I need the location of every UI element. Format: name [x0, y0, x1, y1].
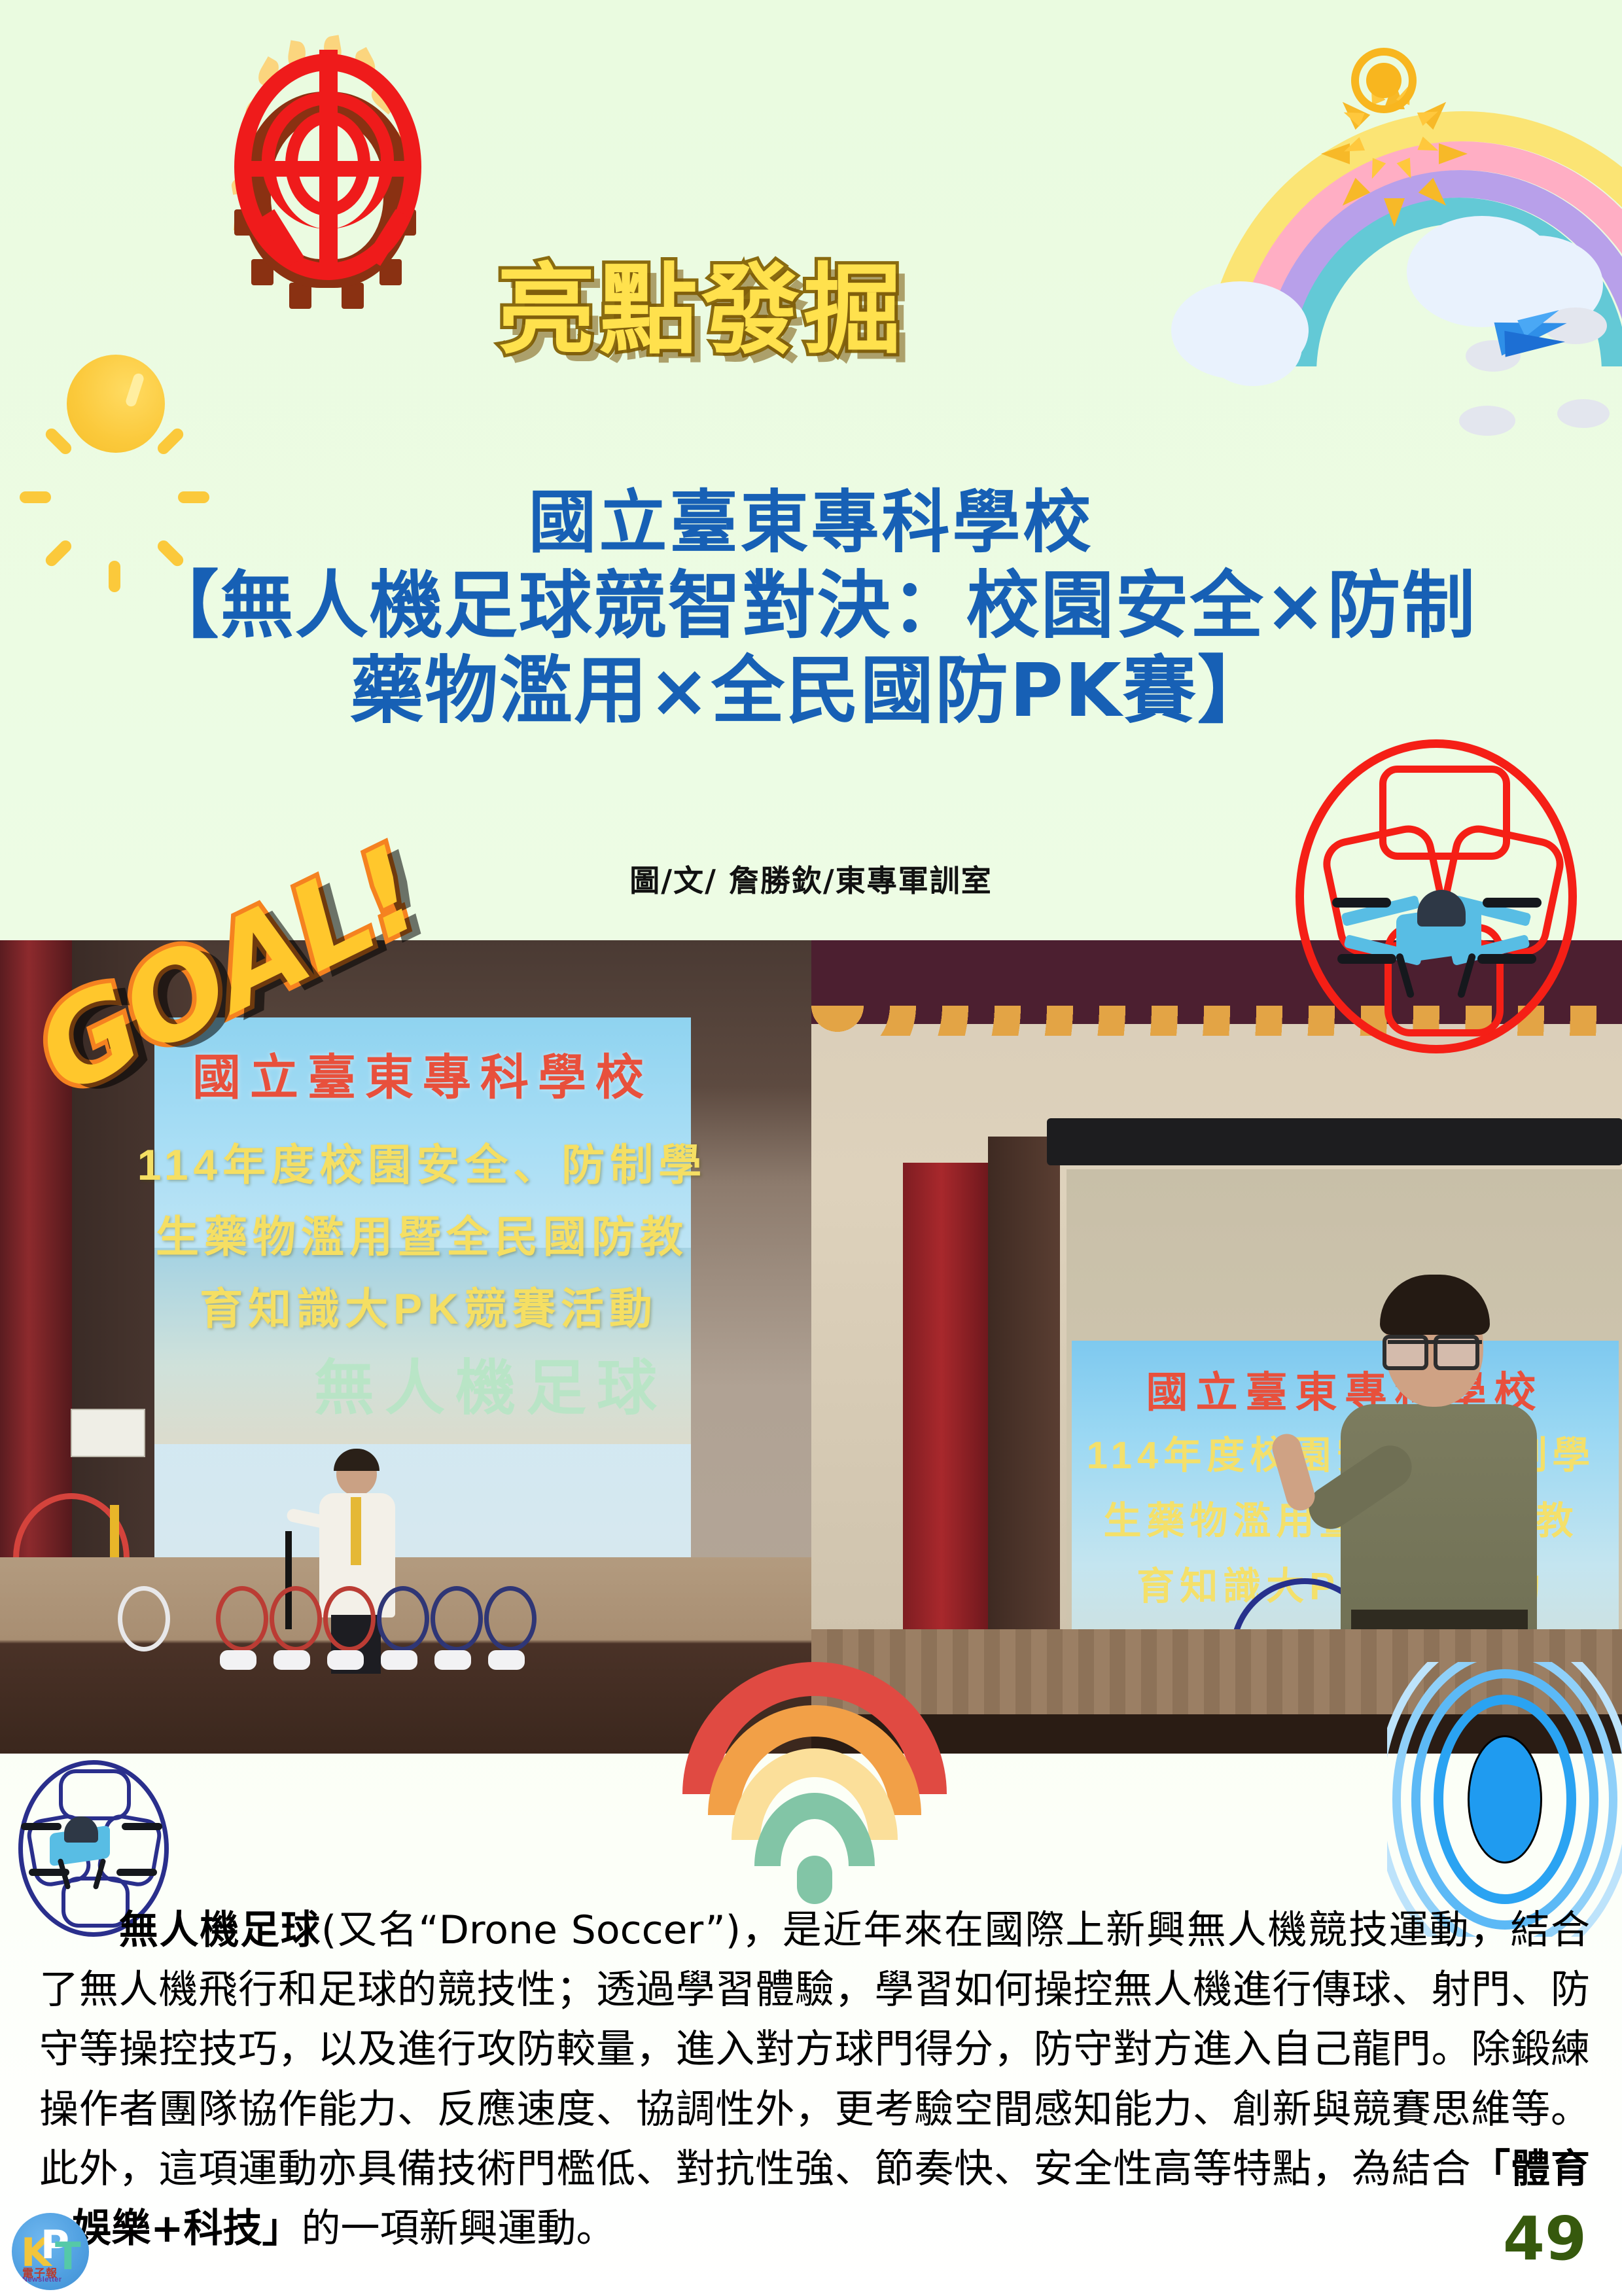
poster-page: 亮點發掘 國立臺東專科學校 【無人機足球競智對決：校園安全×防制 藥物濫用×全民… — [0, 0, 1622, 2296]
photo-right: 國立臺東專科學校 114年度校園安全、防制學 生藥物濫用暨全民國防教 育知識大P… — [811, 940, 1622, 1754]
headline-line-1: 【無人機足球競智對決：校園安全×防制 — [0, 565, 1622, 647]
photo-strip: 國立臺東專科學校 114年度校園安全、防制學 生藥物濫用暨全民國防教 育知識大P… — [0, 940, 1622, 1754]
article-term: (又名“Drone Soccer”) — [321, 1907, 741, 1953]
cloud-icon — [1204, 308, 1302, 386]
cloud-icon — [1557, 399, 1610, 428]
left-slide-line-1: 114年度校園安全、防制學 — [131, 1130, 713, 1193]
drone-icon — [1328, 870, 1544, 1001]
headline-block: 國立臺東專科學校 【無人機足球競智對決：校園安全×防制 藥物濫用×全民國防PK賽… — [0, 484, 1622, 732]
sun-icon — [20, 308, 209, 497]
left-slide-title: 國立臺東專科學校 — [154, 1038, 691, 1108]
banner-title: 亮點發掘 — [497, 262, 1086, 360]
headline-line-2: 藥物濫用×全民國防PK賽】 — [0, 650, 1622, 732]
school-name: 國立臺東專科學校 — [0, 484, 1622, 560]
cloud-icon — [1459, 406, 1515, 436]
left-slide-watermark: 無人機足球 — [249, 1339, 733, 1426]
article-tail: 的一項新興運動。 — [302, 2206, 616, 2252]
article-lead-term: 無人機足球 — [118, 1907, 321, 1953]
left-slide-line-3: 育知識大PK競賽活動 — [137, 1274, 720, 1337]
kpt-newsletter-logo: K P T 電子報 Newsletter — [12, 2213, 89, 2290]
page-number: 49 — [1503, 2204, 1587, 2274]
logo-caption-en: Newsletter — [22, 2276, 62, 2284]
article-body: 無人機足球(又名“Drone Soccer”)，是近年來在國際上新興無人機競技運… — [39, 1901, 1590, 2259]
school-emblem — [164, 13, 491, 308]
left-slide-line-2: 生藥物濫用暨全民國防教 — [131, 1202, 713, 1265]
logo-letter-t: T — [55, 2234, 81, 2278]
tribal-sun-mandala-icon — [1309, 5, 1459, 156]
